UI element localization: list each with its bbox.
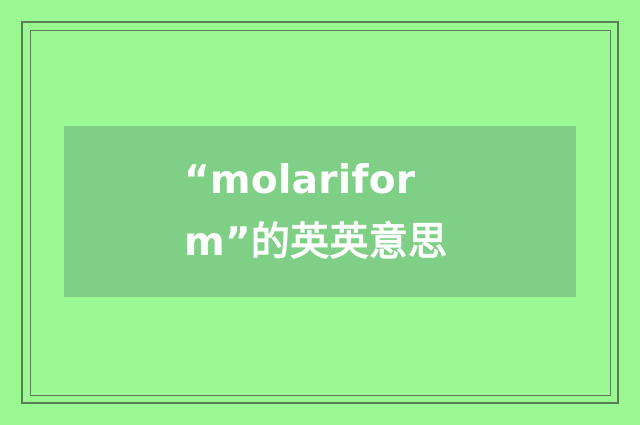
- title-card: “molariform”的英英意思: [0, 0, 640, 425]
- page-title: “molariform”的英英意思: [184, 150, 456, 274]
- title-panel: “molariform”的英英意思: [64, 126, 576, 297]
